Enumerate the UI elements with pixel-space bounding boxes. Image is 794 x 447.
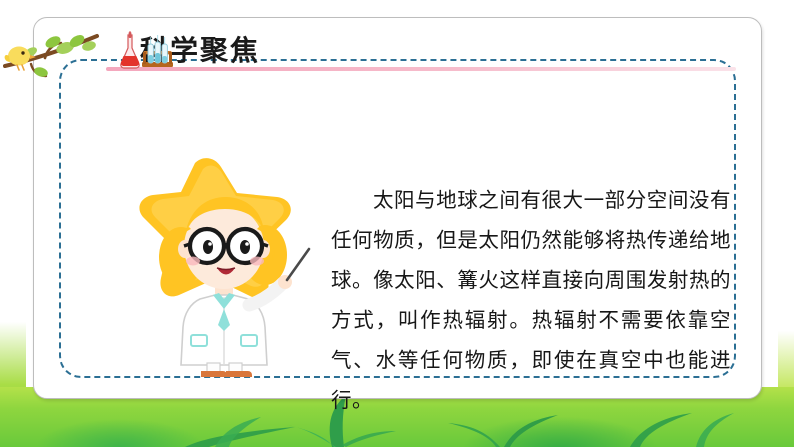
star-haired-scientist-mascot — [137, 149, 312, 377]
title-bar: 科学聚焦 — [34, 18, 761, 70]
content-card: 科学聚焦 — [33, 17, 762, 399]
grass-right-strip — [778, 0, 794, 447]
flask-icon — [120, 31, 174, 71]
body-paragraph: 太阳与地球之间有很大一部分空间没有任何物质，但是太阳仍然能够将热传递给地球。像太… — [331, 180, 731, 420]
slide-root: 科学聚焦 — [0, 0, 794, 447]
bird-on-branch-icon — [1, 22, 121, 80]
